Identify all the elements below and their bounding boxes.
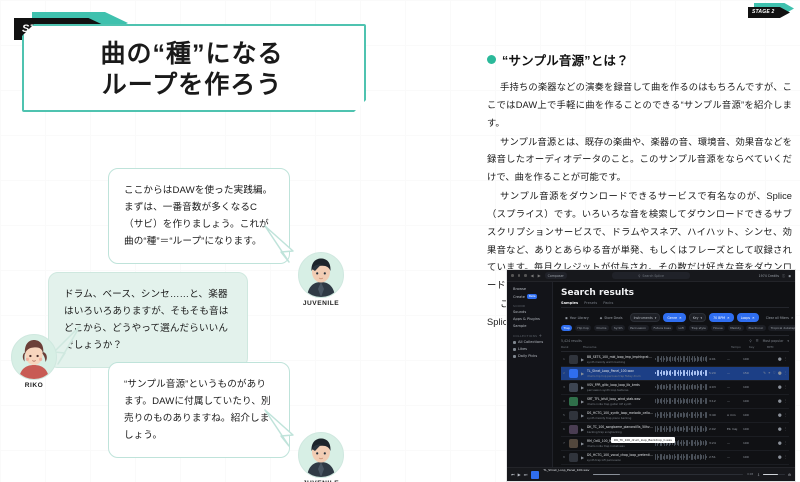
- sample-filename: DK_TC_100_songbame_pianoroll5s_50hz.wav: [587, 425, 653, 429]
- sample-filename: DS_HCTG_100_vocal_chop_loop_pretentiousD…: [587, 453, 653, 457]
- library-icon: ◉: [565, 316, 568, 320]
- sidebar-item-label: Likes: [518, 347, 527, 351]
- app-main-panel: Search results Samples Presets Packs ◉ Y…: [553, 282, 795, 467]
- filter-key[interactable]: Key ▾: [689, 313, 706, 322]
- waveform[interactable]: [655, 384, 707, 391]
- sidebar-item-create[interactable]: Create Beta: [513, 294, 547, 299]
- chevron-right-icon[interactable]: ▶: [538, 273, 541, 278]
- filter-label: Instruments: [634, 316, 653, 320]
- player-right-actions: ⇩ ⚙: [757, 473, 791, 477]
- sample-meta: DS_HCTG_100_vocal_chop_loop_pretentiousD…: [587, 453, 653, 462]
- play-icon[interactable]: ▶: [580, 441, 585, 446]
- sample-bpm: 100: [743, 441, 759, 445]
- sample-tempo: 2:51: [709, 455, 725, 459]
- settings-icon[interactable]: ⚙: [788, 473, 791, 477]
- avatar-image-juvenile-2: [298, 432, 344, 478]
- sample-tags: synth melody warm backing: [587, 360, 653, 364]
- sample-bpm: 100: [743, 399, 759, 403]
- sidebar-item-label: Sounds: [513, 310, 526, 314]
- sidebar-item-browse[interactable]: Browse: [513, 287, 547, 291]
- filter-bpm[interactable]: 70 BPM ✕: [709, 313, 734, 322]
- download-icon[interactable]: ⬤: [778, 413, 782, 417]
- play-icon[interactable]: ▶: [580, 357, 585, 362]
- player-thumbnail: [531, 471, 539, 479]
- sample-thumbnail: [569, 439, 578, 448]
- tag-chip[interactable]: Tropical dubstep: [768, 325, 795, 331]
- page-root: STAGE 2-4 STAGE 2 曲の“種”になる ループを作ろう ここからは…: [0, 0, 800, 482]
- tag-chip[interactable]: Lofi: [676, 325, 686, 331]
- sample-tempo: 4:01: [709, 357, 725, 361]
- sample-tags: synth trap lofi percussion: [587, 458, 653, 462]
- sample-filename: SRT_TFL_bfull_loop_wind_stab.wav: [587, 397, 653, 401]
- download-icon[interactable]: ⬤: [778, 441, 782, 445]
- tab-packs[interactable]: Packs: [603, 301, 613, 305]
- avatar-juvenile-2: JUVENILE: [295, 432, 347, 482]
- sample-filename: BB_SETS_100_mid_loop_lmp_lmphhgratmdfu: [587, 355, 653, 359]
- row-index: 1: [561, 357, 567, 361]
- sample-key: Eb maj: [727, 427, 741, 431]
- play-icon[interactable]: ▶: [580, 385, 585, 390]
- tag-chip[interactable]: Electronic: [746, 325, 766, 331]
- results-sort: ⚲ ☰ Most popular ▾: [749, 339, 789, 343]
- play-icon[interactable]: ▶: [518, 472, 521, 477]
- sample-key: —: [727, 441, 741, 445]
- close-icon[interactable]: ✕: [679, 316, 682, 320]
- sample-bpm: 100: [743, 427, 759, 431]
- sample-key: —: [727, 371, 741, 375]
- search-icon: ⚲: [638, 274, 640, 278]
- tag-chip[interactable]: Melody: [728, 325, 744, 331]
- close-icon[interactable]: ✕: [727, 316, 730, 320]
- waveform[interactable]: [655, 370, 707, 377]
- player-controls: ⏮ ▶ ⏭: [511, 472, 527, 477]
- app-sidebar: Browse Create Beta Sound Sounds Apps & P…: [507, 282, 553, 467]
- filter-genre[interactable]: Genre ✕: [663, 313, 685, 322]
- play-icon[interactable]: ▶: [580, 413, 585, 418]
- filter-label: Store Deals: [604, 316, 622, 320]
- window-dot: [524, 274, 527, 277]
- next-icon[interactable]: ⏭: [524, 472, 528, 477]
- avatar-name-juvenile-1: JUVENILE: [295, 300, 347, 307]
- sample-key: —: [727, 455, 741, 459]
- sidebar-item-label: Apps & Plugins: [513, 317, 540, 321]
- sidebar-section-sound: Sound: [513, 304, 547, 308]
- table-row[interactable]: 6▶DK_TC_100_songbame_pianoroll5s_50hz.wa…: [561, 423, 789, 437]
- splice-app-screenshot: ◀ ▶ Composer ⚲ Search Splice 1974 Credit…: [506, 269, 796, 482]
- sidebar-item-label: Daily Picks: [518, 354, 537, 358]
- project-label: Composer: [548, 274, 564, 278]
- more-icon[interactable]: ⋮: [784, 399, 787, 403]
- tag-icon: ◆: [600, 316, 602, 320]
- sample-tempo: 5:20: [709, 371, 725, 375]
- edit-icon[interactable]: ✎: [763, 371, 766, 375]
- sample-tempo: 3:12: [709, 399, 725, 403]
- sample-meta: DK_TC_100_songbame_pianoroll5s_50hz.wavb…: [587, 425, 653, 434]
- download-icon[interactable]: ⬤: [778, 455, 782, 459]
- tab-samples[interactable]: Samples: [561, 301, 578, 305]
- filter-label: Genre: [667, 316, 677, 320]
- app-tabs: Samples Presets Packs: [561, 301, 789, 308]
- chevron-left-icon[interactable]: ◀: [531, 273, 534, 278]
- tag-chip[interactable]: Trap style: [689, 325, 709, 331]
- table-row[interactable]: 4▶SRT_TFL_bfull_loop_wind_stab.wavdrums …: [561, 395, 789, 409]
- chevron-down-icon: ▾: [787, 339, 789, 343]
- sample-tempo: 3:40: [709, 413, 725, 417]
- more-icon[interactable]: ⋮: [784, 455, 787, 459]
- sidebar-item-apps-plugins[interactable]: Apps & Plugins: [513, 317, 547, 321]
- column-bpm: BPM: [767, 345, 789, 349]
- sample-meta: TL_Skrat_Loop_Panel_100.wavdrums hip hop…: [587, 369, 653, 378]
- row-index: 6: [561, 427, 567, 431]
- sample-tags: drums hip hop percuss trap flutey drum: [587, 374, 653, 378]
- avatar-riko: RIKO: [8, 334, 60, 389]
- results-count: 5,424 results: [561, 339, 582, 343]
- download-icon[interactable]: ⬤: [778, 385, 782, 389]
- sidebar-item-sounds[interactable]: Sounds: [513, 310, 547, 314]
- download-icon[interactable]: ⬤: [778, 371, 782, 375]
- section-heading: “サンプル音源”とは？: [487, 50, 792, 69]
- table-row[interactable]: 2▶TL_Skrat_Loop_Panel_100.wavdrums hip h…: [561, 367, 789, 381]
- row-actions: ⬤⋮: [761, 399, 789, 403]
- sample-key: A min: [727, 413, 741, 417]
- prev-icon[interactable]: ⏮: [511, 472, 515, 477]
- sample-key: —: [727, 357, 741, 361]
- results-table: 1▶BB_SETS_100_mid_loop_lmp_lmphhgratmdfu…: [561, 353, 789, 468]
- row-index: 2: [561, 371, 567, 375]
- list-view-icon[interactable]: ☰: [756, 339, 759, 343]
- sidebar-item-label: Sample: [513, 324, 526, 328]
- table-row[interactable]: 8▶DS_HCTG_100_vocal_chop_loop_pretentiou…: [561, 451, 789, 465]
- chevron-down-icon: ▾: [655, 316, 657, 320]
- account-icon[interactable]: ◉: [788, 274, 791, 278]
- stage-tab-mini: STAGE 2: [748, 3, 796, 18]
- filter-store-deals[interactable]: ◆ Store Deals: [596, 313, 627, 322]
- sample-tags: backing trap songbacking: [587, 430, 653, 434]
- waveform[interactable]: [655, 356, 707, 363]
- tag-chip[interactable]: Percussion: [628, 325, 649, 331]
- sample-bpm: 100: [743, 455, 759, 459]
- sidebar-item-all-collections[interactable]: All Collections: [513, 340, 547, 344]
- avatar-juvenile-1: JUVENILE: [295, 252, 347, 307]
- collection-icon: [513, 341, 516, 344]
- tab-presets[interactable]: Presets: [584, 301, 597, 305]
- more-icon[interactable]: ⋮: [784, 441, 787, 445]
- table-row[interactable]: 3▶VSV_FPR_glitc_loop_loop_lib_brrdspercu…: [561, 381, 789, 395]
- filter-label: 70 BPM: [713, 316, 725, 320]
- sample-meta: SRT_TFL_bfull_loop_wind_stab.wavdrums in…: [587, 397, 653, 406]
- sidebar-item-daily-picks[interactable]: Daily Picks: [513, 354, 547, 358]
- waveform[interactable]: [655, 426, 707, 433]
- tag-row: Trap Hip hop Drums Synth Percussion Futu…: [561, 325, 789, 331]
- sample-meta: VSV_FPR_glitc_loop_loop_lib_brrdspercuss…: [587, 383, 653, 392]
- tag-chip[interactable]: Hip hop: [575, 325, 592, 331]
- app-topbar-right: 1974 Credits ⓘ ◉: [759, 273, 791, 278]
- section-heading-text: “サンプル音源”とは？: [502, 50, 629, 69]
- play-icon[interactable]: ▶: [580, 427, 585, 432]
- row-actions: ⬤⋮: [761, 427, 789, 431]
- more-icon[interactable]: ⋮: [784, 413, 787, 417]
- app-page-title: Search results: [561, 288, 789, 298]
- avatar-name-riko: RIKO: [8, 382, 60, 389]
- sample-thumbnail: [569, 397, 578, 406]
- filter-label: Key: [693, 316, 699, 320]
- more-icon[interactable]: ⋮: [784, 357, 787, 361]
- waveform[interactable]: [655, 454, 707, 461]
- sample-tags: percussion synth loop textures: [587, 388, 653, 392]
- waveform[interactable]: [655, 412, 707, 419]
- sidebar-section-collections: Collections +: [513, 333, 547, 338]
- column-tempo: Tempo: [731, 345, 749, 349]
- filter-row: ◉ Your Library ◆ Store Deals Instruments…: [561, 313, 789, 322]
- sample-tags: synth melody trap piano backing: [587, 416, 653, 420]
- sample-thumbnail: [569, 383, 578, 392]
- sample-tempo: 3:24: [709, 441, 725, 445]
- sample-meta: DS_HCTG_100_synth_loop_melodic_cello9Dro…: [587, 411, 653, 420]
- sidebar-item-label: All Collections: [518, 340, 543, 344]
- table-row[interactable]: 5▶DS_HCTG_100_synth_loop_melodic_cello9D…: [561, 409, 789, 423]
- sample-thumbnail: [569, 411, 578, 420]
- row-index: 7: [561, 441, 567, 445]
- stage-tab-mini-label: STAGE 2: [752, 7, 786, 18]
- row-actions: ⬤⋮: [761, 357, 789, 361]
- filter-loops[interactable]: Loops ✕: [737, 313, 759, 322]
- play-icon[interactable]: ▶: [580, 399, 585, 404]
- filter-your-library[interactable]: ◉ Your Library: [561, 313, 593, 322]
- close-icon[interactable]: ✕: [752, 316, 755, 320]
- download-icon[interactable]: ⇩: [757, 473, 760, 477]
- sample-key: —: [727, 385, 741, 389]
- download-icon[interactable]: ⬤: [778, 427, 782, 431]
- help-icon[interactable]: ⓘ: [782, 273, 785, 278]
- filter-label: Loops: [741, 316, 750, 320]
- sidebar-badge-beta: Beta: [527, 294, 537, 299]
- sample-tags: drums indie trap guitar lofi synth: [587, 402, 653, 406]
- search-icon[interactable]: ⚲: [749, 339, 751, 343]
- player-track-name: TL_Shrek_Loop_Panel_100.wav: [543, 468, 589, 472]
- sidebar-item-likes[interactable]: Likes: [513, 347, 547, 351]
- sample-bpm: 150: [743, 371, 759, 375]
- sample-bpm: 100: [743, 413, 759, 417]
- sample-filename: VSV_FPR_glitc_loop_loop_lib_brrds: [587, 383, 653, 387]
- download-icon[interactable]: ⬤: [778, 357, 782, 361]
- body-paragraph-1: 手持ちの楽器などの演奏を録音して曲を作るのはもちろんですが、ここではDAW上で手…: [487, 79, 792, 133]
- sample-thumbnail: [569, 369, 578, 378]
- tag-chip[interactable]: House: [711, 325, 725, 331]
- player-time: 0:08: [747, 473, 753, 476]
- sample-thumbnail: [569, 425, 578, 434]
- tag-chip[interactable]: Trap: [561, 325, 572, 331]
- sidebar-item-sample[interactable]: Sample: [513, 324, 547, 328]
- row-actions: ✎⚭♡⬤⋮: [761, 371, 789, 375]
- sample-key: —: [727, 399, 741, 403]
- sample-meta: BB_SETS_100_mid_loop_lmp_lmphhgratmdfusy…: [587, 355, 653, 364]
- avatar-image-juvenile: [298, 252, 344, 298]
- download-icon[interactable]: ⬤: [778, 399, 782, 403]
- link-icon[interactable]: ⚭: [768, 371, 771, 375]
- avatar-image-riko: [11, 334, 57, 380]
- row-index: 3: [561, 385, 567, 389]
- row-actions: ⬤⋮: [761, 385, 789, 389]
- project-selector[interactable]: Composer: [545, 272, 567, 279]
- row-actions: ⬤⋮: [761, 441, 789, 445]
- star-icon: [513, 355, 516, 358]
- sample-bpm: 100: [743, 385, 759, 389]
- tag-chip[interactable]: Synth: [611, 325, 625, 331]
- window-dot: [511, 274, 514, 277]
- speech-bubble-1-text: ここからはDAWを使った実践編。まずは、一番音数が多くなるC（サビ）を作りましょ…: [124, 182, 274, 250]
- more-icon[interactable]: ⋮: [784, 427, 787, 431]
- speech-bubble-3-text: “サンプル音源”というものがあります。DAWに付属していたり、別売りのものありま…: [124, 376, 274, 444]
- heart-icon: [513, 348, 516, 351]
- sample-thumbnail: [569, 355, 578, 364]
- table-row[interactable]: 1▶BB_SETS_100_mid_loop_lmp_lmphhgratmdfu…: [561, 353, 789, 367]
- sample-tempo: 4:03: [709, 385, 725, 389]
- tag-chip[interactable]: Future bass: [651, 325, 673, 331]
- table-column-header: Rank Filename Tempo Key BPM: [561, 345, 789, 352]
- more-icon[interactable]: ⋮: [784, 371, 787, 375]
- filter-instruments[interactable]: Instruments ▾: [630, 313, 661, 322]
- close-icon: ✕: [791, 316, 794, 320]
- sidebar-section-label: Collections: [513, 334, 537, 338]
- credits-label[interactable]: 1974 Credits: [759, 274, 779, 278]
- heart-icon[interactable]: ♡: [773, 371, 776, 375]
- more-icon[interactable]: ⋮: [784, 385, 787, 389]
- play-icon[interactable]: ▶: [580, 371, 585, 376]
- clear-all-filters-button[interactable]: Clear all filters ✕: [762, 313, 795, 322]
- column-key: Key: [749, 345, 767, 349]
- speech-bubble-2-text: ドラム、ベース、シンセ……と、楽器はいろいろありますが、そもそも音はどこから、ど…: [64, 286, 232, 354]
- column-filename: Filename: [583, 345, 705, 349]
- title-box: [22, 24, 366, 112]
- sample-bpm: 100: [743, 357, 759, 361]
- sample-tempo: 2:02: [709, 427, 725, 431]
- results-header: 5,424 results ⚲ ☰ Most popular ▾: [561, 335, 789, 345]
- row-actions: ⬤⋮: [761, 455, 789, 459]
- player-progress-bar[interactable]: [593, 474, 743, 476]
- body-paragraph-2: サンプル音源とは、既存の楽曲や、楽器の音、環境音、効果音などを録音したオーディオ…: [487, 134, 792, 188]
- sort-label[interactable]: Most popular: [763, 339, 784, 343]
- sample-filename: DS_HCTG_100_synth_loop_melodic_cello9Dro…: [587, 411, 653, 415]
- app-topbar: ◀ ▶ Composer ⚲ Search Splice 1974 Credit…: [507, 270, 795, 282]
- waveform[interactable]: [655, 398, 707, 405]
- player-track-meta: TL_Shrek_Loop_Panel_100.wav drums hip ho…: [543, 456, 589, 482]
- filename-tooltip: DK_TC_100_drum_loop_Backdrop_C.wav: [611, 437, 675, 443]
- app-player-bar: ⏮ ▶ ⏭ TL_Shrek_Loop_Panel_100.wav drums …: [507, 467, 795, 481]
- window-dot: [518, 274, 521, 277]
- chevron-down-icon: ▾: [701, 316, 703, 320]
- sidebar-item-label: Create: [513, 295, 525, 299]
- sidebar-item-label: Browse: [513, 287, 526, 291]
- volume-slider[interactable]: [763, 474, 785, 476]
- sample-filename: TL_Skrat_Loop_Panel_100.wav: [587, 369, 653, 373]
- bullet-icon: [487, 55, 496, 64]
- row-index: 5: [561, 413, 567, 417]
- filter-label: Clear all filters: [766, 316, 789, 320]
- row-actions: ⬤⋮: [761, 413, 789, 417]
- sample-tags: drums indie trap rocket.wav: [587, 444, 653, 448]
- column-rank: Rank: [561, 345, 583, 349]
- add-collection-icon[interactable]: +: [539, 333, 543, 338]
- filter-label: Your Library: [570, 316, 589, 320]
- row-index: 4: [561, 399, 567, 403]
- app-search-placeholder: Search Splice: [642, 274, 664, 278]
- app-search-input[interactable]: ⚲ Search Splice: [612, 272, 690, 279]
- tag-chip[interactable]: Drums: [594, 325, 609, 331]
